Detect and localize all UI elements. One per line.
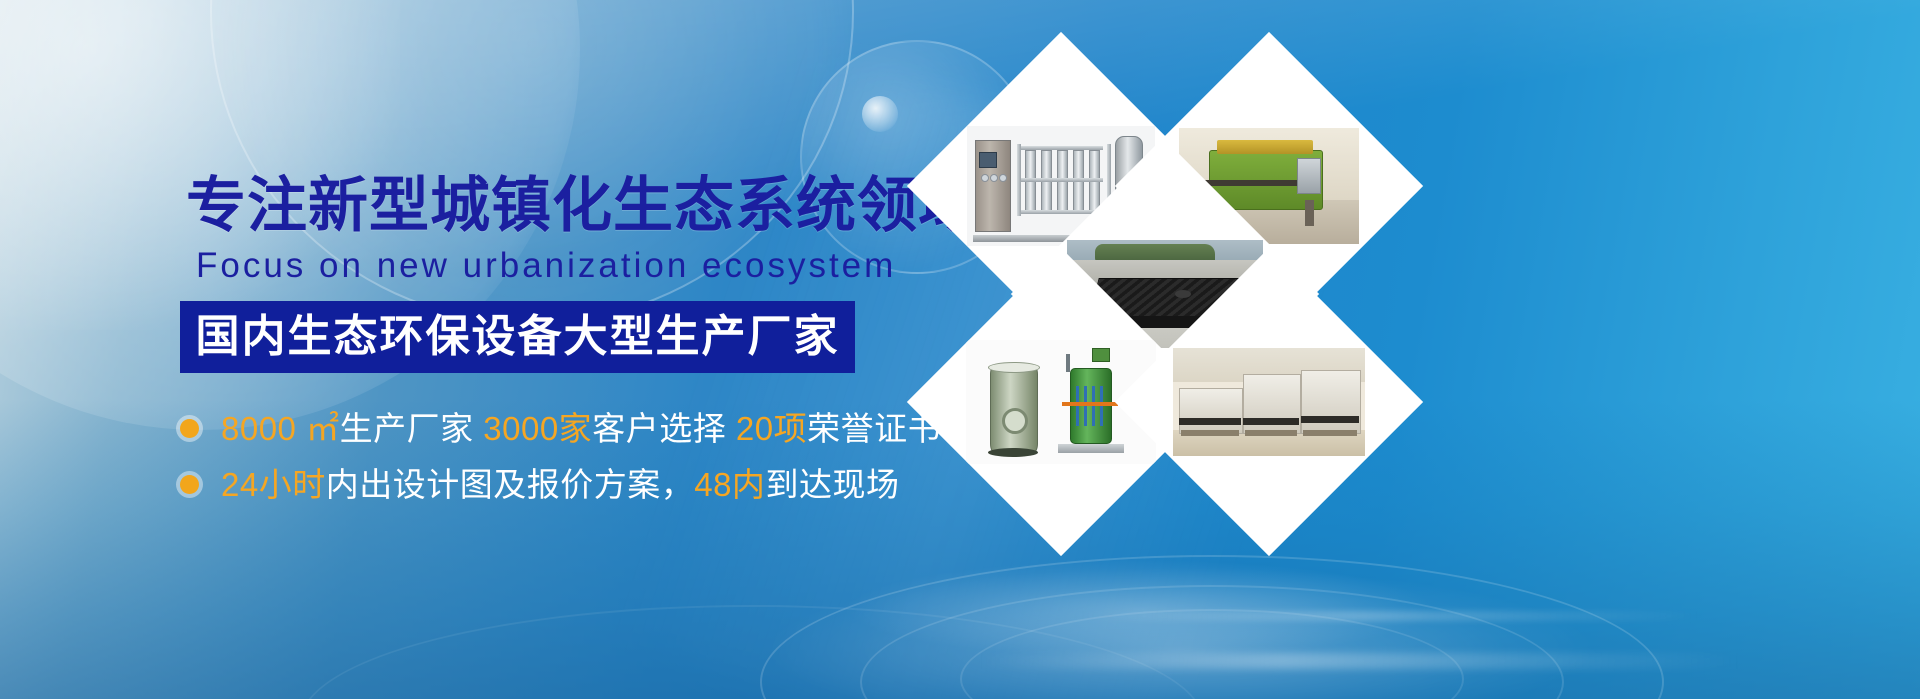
- banner-text-block: 专注新型城镇化生态系统领域 Focus on new urbanization …: [0, 0, 950, 699]
- slogan-text: 国内生态环保设备大型生产厂家: [196, 315, 840, 359]
- list-item: 8000 ㎡生产厂家 3000家客户选择 20项荣誉证书: [180, 404, 941, 452]
- orange-dot-icon: [180, 419, 199, 438]
- hero-banner: 专注新型城镇化生态系统领域 Focus on new urbanization …: [0, 0, 1920, 699]
- list-item-text: 24小时内出设计图及报价方案，48内到达现场: [221, 468, 899, 501]
- product-photo-collage: [900, 30, 1920, 670]
- orange-dot-icon: [180, 475, 199, 494]
- page-title: 专注新型城镇化生态系统领域: [186, 176, 979, 236]
- product-photo-aac-panels: [1173, 348, 1365, 456]
- list-item-text: 8000 ㎡生产厂家 3000家客户选择 20项荣誉证书: [221, 412, 941, 445]
- feature-list: 8000 ㎡生产厂家 3000家客户选择 20项荣誉证书 24小时内出设计图及报…: [180, 404, 941, 516]
- page-subtitle: Focus on new urbanization ecosystem: [196, 248, 896, 283]
- list-item: 24小时内出设计图及报价方案，48内到达现场: [180, 460, 941, 508]
- slogan-banner: 国内生态环保设备大型生产厂家: [180, 301, 855, 373]
